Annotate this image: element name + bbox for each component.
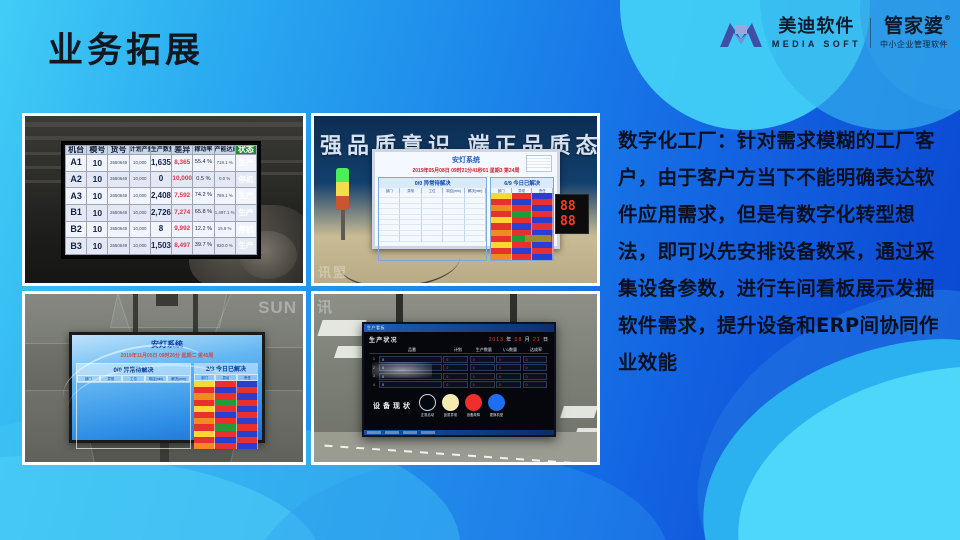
cell-item: 2650649 (108, 221, 129, 238)
cell-diff: 8,497 (172, 238, 193, 255)
logo-text-group: 美迪软件 MEDIA SOFT 管家婆® 中小企业管理软件 (772, 17, 948, 49)
brand-media-soft: 美迪软件 MEDIA SOFT (772, 18, 861, 49)
table-row: A210265064910,000010,0000.5 %0.0 %停机 (66, 171, 257, 188)
status-legend-label: 品质异常 (444, 412, 458, 417)
table-row: B310265064910,0001,5038,49739.7 %920.0 %… (66, 238, 257, 255)
cell-achieve: 789.1 % (214, 188, 235, 205)
product-cn-label: 管家婆® (884, 17, 944, 36)
andon-screen-wall: 安灯系统 2019年05月08日 09时21分41秒01 星期3 第24周 0/… (372, 149, 560, 249)
list-item (379, 236, 486, 241)
photo-production-table[interactable]: 机台 模号 货号 计划产量 生产数量 差异 稼动率 产能达成率 状态 A1102… (22, 113, 306, 286)
production-dashboard-screen: 机台 模号 货号 计划产量 生产数量 差异 稼动率 产能达成率 状态 A1102… (63, 143, 259, 257)
board-col-plan: 计划 (445, 347, 471, 353)
col-mold: 模号 (87, 146, 108, 155)
board-cell: 0 (379, 381, 442, 388)
status-dot-blue-icon (488, 394, 505, 411)
row-index: 1 (369, 357, 379, 361)
cell-actual: 2,726 (150, 204, 171, 221)
cell-mold: 10 (87, 171, 108, 188)
cell-diff: 8,365 (172, 155, 193, 172)
status-badge: 生产 (235, 155, 256, 172)
list-item (491, 254, 553, 260)
media-soft-mark-icon (718, 17, 764, 49)
watermark: 讯盟 (318, 262, 348, 281)
row-index: 4 (369, 383, 379, 387)
board-cell: 0 (523, 381, 548, 388)
andon-resolved-rows (491, 193, 553, 260)
cell-mold: 10 (87, 221, 108, 238)
board-cell: 0 (443, 356, 468, 363)
cell-diff: 9,992 (172, 221, 193, 238)
page-title: 业务拓展 (48, 22, 204, 73)
andon-panels: 0/0 异常待解决 部门异常工位响应(min)解决(min) 6/9 今日已解决… (375, 174, 557, 264)
cell-item: 2650649 (108, 155, 129, 172)
board-cell: 0 (523, 364, 548, 371)
cell-rate: 74.2 % (193, 188, 214, 205)
andon-resolved-panel: 6/9 今日已解决 部门异常责任 (490, 177, 554, 261)
status-legend-item: 品质异常 (442, 394, 459, 417)
col-actual: 生产数量 (150, 146, 171, 155)
board-window-titlebar: 生产看板 (364, 324, 554, 332)
company-logo: 美迪软件 MEDIA SOFT 管家婆® 中小企业管理软件 (718, 6, 948, 60)
production-table: 机台 模号 货号 计划产量 生产数量 差异 稼动率 产能达成率 状态 A1102… (65, 145, 257, 255)
watermark: 讯 (317, 296, 332, 317)
cell-achieve: 1,497.1 % (214, 204, 235, 221)
cell-actual: 2,408 (150, 188, 171, 205)
photo-grid: 机台 模号 货号 计划产量 生产数量 差异 稼动率 产能达成率 状态 A1102… (22, 113, 600, 465)
photo-4-scene: 生产看板 生产状况 2013 年 08 月 21 日 品番 (314, 294, 597, 462)
cell-plan: 10,000 (129, 221, 150, 238)
board-cell: 0 (523, 373, 548, 380)
status-legend-item: 正常启动 (419, 394, 436, 417)
col-status: 状态 (235, 146, 256, 155)
registered-mark-icon: ® (944, 15, 952, 22)
cell-mold: 10 (87, 155, 108, 172)
production-table-body: A110265064910,0001,6358,36555.4 %718.1 %… (66, 155, 257, 255)
cell-rate: 55.4 % (193, 155, 214, 172)
product-sub-label: 中小企业管理软件 (880, 41, 948, 49)
col-machine: 机台 (66, 146, 87, 155)
board-cell: 0 (470, 373, 495, 380)
table-row: 400000 (369, 381, 549, 388)
table-row: A110265064910,0001,6358,36555.4 %718.1 %… (66, 155, 257, 172)
status-dot-outline-icon (419, 394, 436, 411)
cell-item: 2650649 (108, 238, 129, 255)
cell-diff: 7,274 (172, 204, 193, 221)
cell-plan: 10,000 (129, 188, 150, 205)
status-legend-item: 设备故障 (465, 394, 482, 417)
table-row: A310265064910,0002,4087,59274.2 %789.1 %… (66, 188, 257, 205)
cell-diff: 7,592 (172, 188, 193, 205)
brand-guanjiapo: 管家婆® 中小企业管理软件 (880, 17, 948, 49)
equipment-status-legend: 设备现状 正常启动品质异常设备故障更换机型 (364, 388, 554, 417)
cell-machine: A1 (66, 155, 87, 172)
cell-actual: 1,635 (150, 155, 171, 172)
cell-plan: 10,000 (129, 171, 150, 188)
board-cell: 0 (443, 373, 468, 380)
andon-footer-badge (525, 235, 551, 242)
col-rate: 稼动率 (193, 146, 214, 155)
status-dot-yellow-icon (442, 394, 459, 411)
cell-mold: 10 (87, 238, 108, 255)
board-cell: 0 (496, 381, 521, 388)
board-col-ng: い1数量 (497, 347, 523, 353)
photo-andon-ceiling[interactable]: 安灯系统 2019年11月05日 09时26分 星期二 第45周 0/0 异常待… (22, 291, 306, 465)
andon-mini-legend (526, 155, 552, 172)
list-item (194, 443, 258, 449)
status-legend-item: 更换机型 (488, 394, 505, 417)
watermark: SUN (258, 298, 297, 318)
board-cell: 0 (496, 364, 521, 371)
board-col-item: 品番 (379, 347, 445, 353)
cell-item: 2650649 (108, 171, 129, 188)
board-cell: 0 (496, 373, 521, 380)
status-badge: 生产 (235, 238, 256, 255)
andon-screen-ceiling: 安灯系统 2019年11月05日 09时26分 星期二 第45周 0/0 异常待… (69, 332, 265, 443)
andon-ceiling-subtitle: 2019年11月05日 09时26分 星期二 第45周 (72, 352, 262, 359)
col-item: 货号 (108, 146, 129, 155)
cell-machine: A2 (66, 171, 87, 188)
status-dot-red-icon (465, 394, 482, 411)
status-badge: 生产 (235, 204, 256, 221)
board-cell: 0 (470, 356, 495, 363)
cell-machine: A3 (66, 188, 87, 205)
board-cell: 0 (523, 356, 548, 363)
board-column-headers: 品番 计划 生产数量 い1数量 达成率 (369, 347, 549, 354)
board-col-actual: 生产数量 (471, 347, 497, 353)
board-date: 2013 年 08 月 21 日 (489, 336, 549, 343)
col-plan: 计划产量 (129, 146, 150, 155)
cell-achieve: 718.1 % (214, 155, 235, 172)
equipment-status-label: 设备现状 (373, 401, 413, 411)
andon-pending-panel: 0/0 异常待解决 部门异常工位响应(min)解决(min) (378, 177, 487, 261)
production-status-board: 生产看板 生产状况 2013 年 08 月 21 日 品番 (362, 322, 556, 437)
photo-production-board[interactable]: 生产看板 生产状况 2013 年 08 月 21 日 品番 (311, 291, 600, 465)
cell-mold: 10 (87, 188, 108, 205)
cell-item: 2650649 (108, 204, 129, 221)
brand-en-label: MEDIA SOFT (772, 40, 861, 49)
board-cell: 0 (443, 381, 468, 388)
board-cell: 0 (470, 381, 495, 388)
board-taskbar (364, 430, 554, 435)
status-legend-label: 正常启动 (421, 412, 435, 417)
table-row: B110265064910,0002,7267,27465.8 %1,497.1… (66, 204, 257, 221)
body-text: 数字化工厂：针对需求模糊的工厂客户，由于客户方当下不能明确表达软件应用需求，但是… (618, 122, 948, 381)
cell-machine: B3 (66, 238, 87, 255)
photo-1-scene: 机台 模号 货号 计划产量 生产数量 差异 稼动率 产能达成率 状态 A1102… (25, 116, 303, 283)
cell-achieve: 15.9 % (214, 221, 235, 238)
status-badge: 停机 (235, 221, 256, 238)
andon-pending-title: 0/0 异常待解决 (379, 178, 486, 188)
cell-rate: 12.2 % (193, 221, 214, 238)
cell-machine: B1 (66, 204, 87, 221)
col-diff: 差异 (172, 146, 193, 155)
board-cell: 0 (470, 364, 495, 371)
cell-actual: 0 (150, 171, 171, 188)
board-col-achieve: 达成率 (523, 347, 549, 353)
col-achieve: 产能达成率 (214, 146, 235, 155)
status-dots: 正常启动品质异常设备故障更换机型 (419, 394, 505, 417)
cell-machine: B2 (66, 221, 87, 238)
led-display: 88 88 (555, 194, 589, 234)
status-legend-label: 更换机型 (490, 412, 504, 417)
cell-achieve: 0.0 % (214, 171, 235, 188)
status-badge: 停机 (235, 171, 256, 188)
photo-2-scene: 强品质意识 端正品质态 安灯系统 2019年05月08日 09时21分41秒01… (314, 116, 597, 283)
status-badge: 生产 (235, 188, 256, 205)
board-cell: 0 (496, 356, 521, 363)
column-header: 责任 (237, 374, 258, 381)
cell-actual: 8 (150, 221, 171, 238)
board-header: 生产状况 2013 年 08 月 21 日 (364, 332, 554, 344)
board-cell: 0 (443, 364, 468, 371)
board-window-title: 生产看板 (367, 325, 385, 331)
cell-achieve: 920.0 % (214, 238, 235, 255)
screen-glare (372, 362, 432, 378)
cell-plan: 10,000 (129, 238, 150, 255)
cell-rate: 39.7 % (193, 238, 214, 255)
cell-rate: 0.5 % (193, 171, 214, 188)
slide-header: 业务拓展 美迪软件 MEDIA SOFT 管家婆® 中小企业管理软件 (0, 0, 960, 90)
andon-light-tower-icon (336, 168, 349, 210)
cell-plan: 10,000 (129, 204, 150, 221)
cell-plan: 10,000 (129, 155, 150, 172)
cell-rate: 65.8 % (193, 204, 214, 221)
cell-mold: 10 (87, 204, 108, 221)
andon-resolved-title: 6/9 今日已解决 (491, 178, 553, 188)
table-header-row: 机台 模号 货号 计划产量 生产数量 差异 稼动率 产能达成率 状态 (66, 146, 257, 155)
table-row: B210265064910,00089,99212.2 %15.9 %停机 (66, 221, 257, 238)
board-title: 生产状况 (369, 335, 398, 344)
production-table-head: 机台 模号 货号 计划产量 生产数量 差异 稼动率 产能达成率 状态 (66, 146, 257, 155)
brand-cn-label: 美迪软件 (778, 18, 854, 36)
andon-pending-rows (379, 193, 486, 242)
cell-actual: 1,503 (150, 238, 171, 255)
photo-3-scene: 安灯系统 2019年11月05日 09时26分 星期二 第45周 0/0 异常待… (25, 294, 303, 462)
cell-diff: 10,000 (172, 171, 193, 188)
status-legend-label: 设备故障 (467, 412, 481, 417)
cell-item: 2650649 (108, 188, 129, 205)
photo-andon-wall[interactable]: 强品质意识 端正品质态 安灯系统 2019年05月08日 09时21分41秒01… (311, 113, 600, 286)
logo-divider (870, 18, 871, 48)
